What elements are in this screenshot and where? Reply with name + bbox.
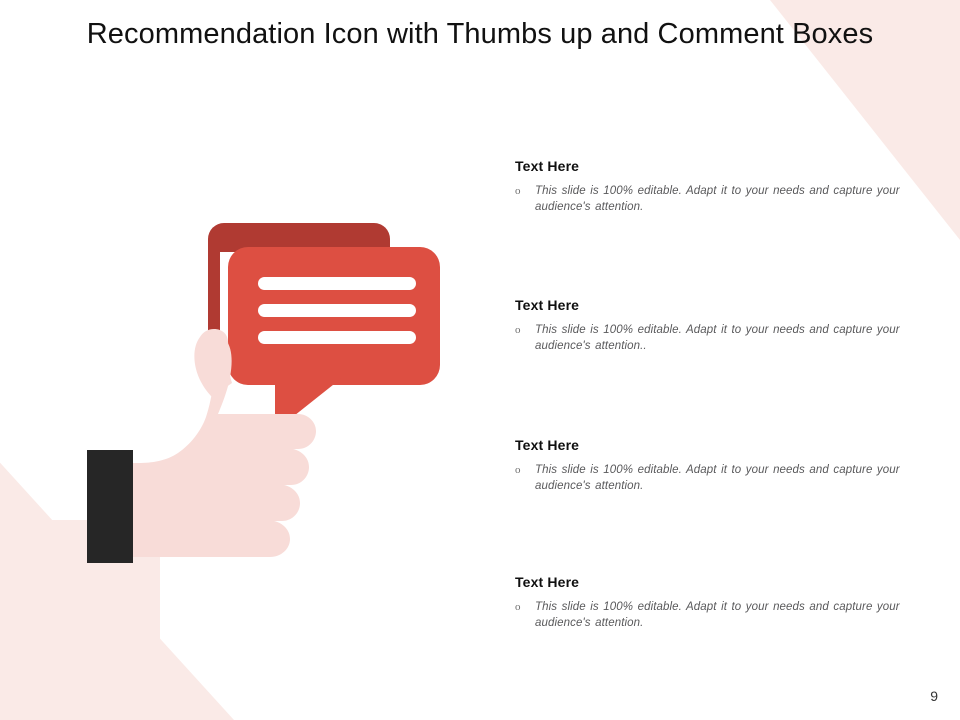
bullet-row: o This slide is 100% editable. Adapt it … [515,462,915,494]
thumbs-up-comment-boxes-illustration [60,205,460,595]
block-heading: Text Here [515,297,915,313]
comment-line-2 [258,304,416,317]
comment-line-3 [258,331,416,344]
bullet-row: o This slide is 100% editable. Adapt it … [515,322,915,354]
page-number: 9 [930,688,938,704]
sleeve-cuff-icon [87,450,133,563]
bullet-marker-icon: o [515,599,535,615]
slide-header: Recommendation Icon with Thumbs up and C… [0,0,960,72]
block-body-text: This slide is 100% editable. Adapt it to… [535,322,915,354]
bullet-marker-icon: o [515,322,535,338]
bullet-marker-icon: o [515,183,535,199]
page-title: Recommendation Icon with Thumbs up and C… [0,18,960,51]
bullet-row: o This slide is 100% editable. Adapt it … [515,183,915,215]
block-body-text: This slide is 100% editable. Adapt it to… [535,462,915,494]
block-heading: Text Here [515,158,915,174]
block-body-text: This slide is 100% editable. Adapt it to… [535,183,915,215]
slide-canvas: Recommendation Icon with Thumbs up and C… [0,0,960,720]
text-block: Text Here o This slide is 100% editable.… [515,158,915,215]
block-heading: Text Here [515,574,915,590]
bullet-marker-icon: o [515,462,535,478]
block-body-text: This slide is 100% editable. Adapt it to… [535,599,915,631]
text-block: Text Here o This slide is 100% editable.… [515,437,915,494]
comment-line-1 [258,277,416,290]
text-block: Text Here o This slide is 100% editable.… [515,297,915,354]
text-block: Text Here o This slide is 100% editable.… [515,574,915,631]
bullet-row: o This slide is 100% editable. Adapt it … [515,599,915,631]
block-heading: Text Here [515,437,915,453]
